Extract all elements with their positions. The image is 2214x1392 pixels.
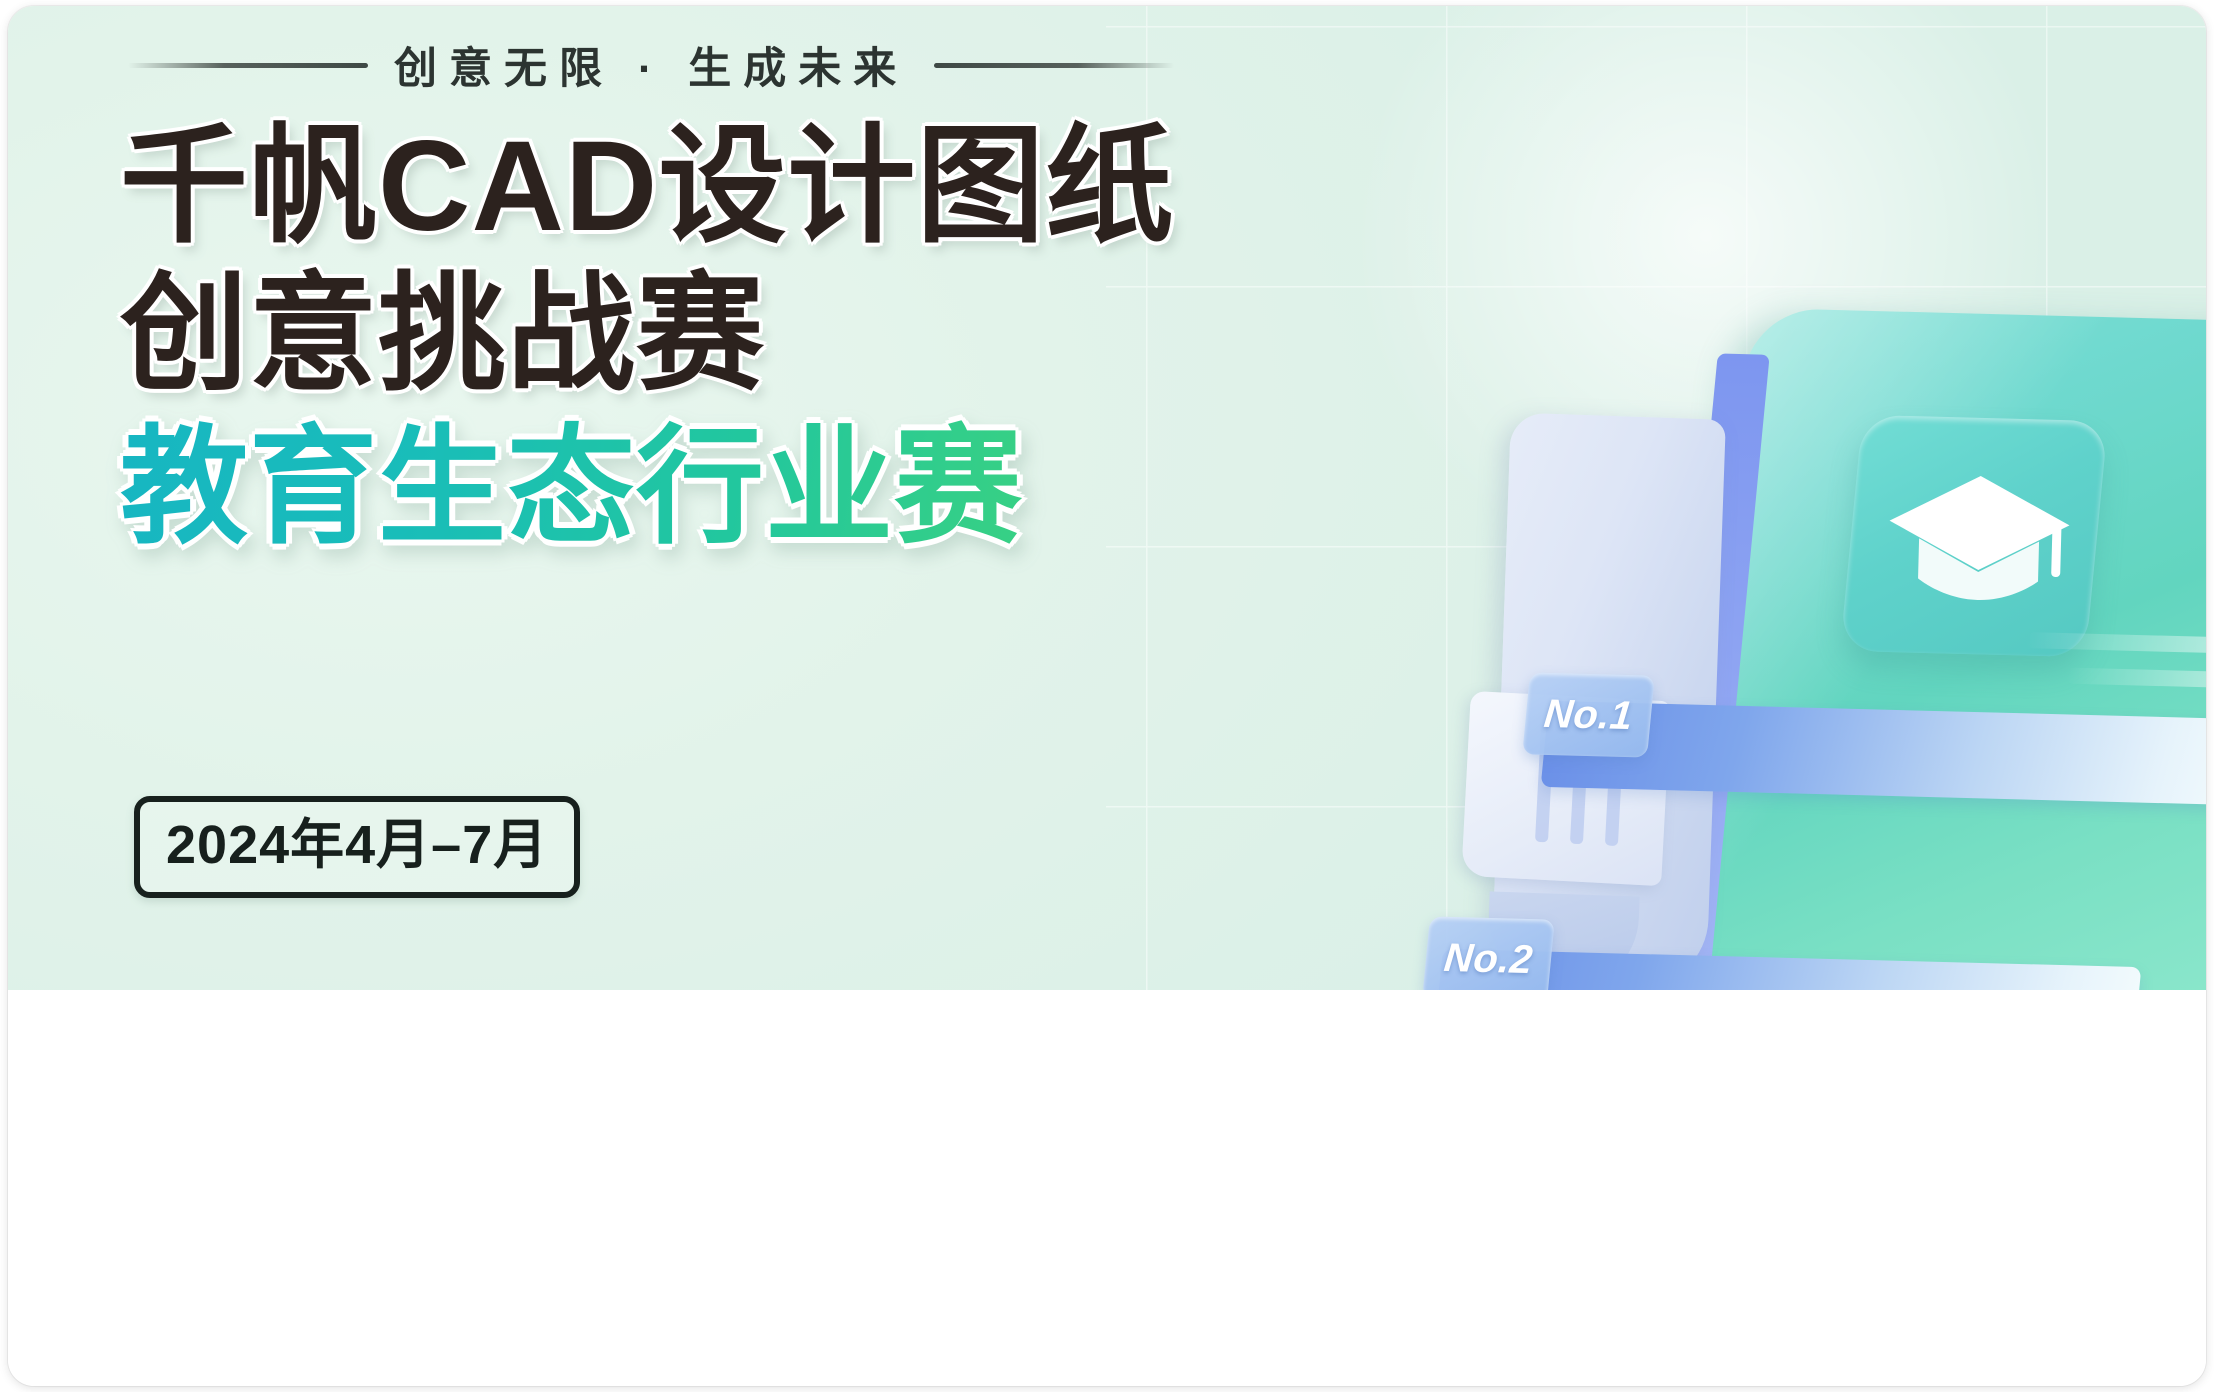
title-line-3-accent: 教育生态行业赛 [120,418,1174,558]
illustration-paper-sheet [1491,412,1726,989]
illustration-streak [2066,668,2206,691]
tagline-rule-right [934,63,1174,68]
page-content-area [8,990,2206,1386]
page-card: 创意无限 · 生成未来 千帆CAD设计图纸 创意挑战赛 教育生态行业赛 2024… [8,6,2206,1386]
illustration-blue-spine [1658,353,1769,974]
rank-chip: No.1 [1522,672,1655,757]
event-date-text: 2024年4月–7月 [166,814,548,876]
rank-bar [1435,949,2142,990]
illustration-icon-tile [1840,415,2108,657]
graduation-cap-icon [1882,466,2076,621]
banner-glow-decoration [1326,6,2086,586]
illustration-teal-slab [1684,308,2206,990]
title-line-2: 创意挑战赛 [120,266,1174,404]
banner-3d-illustration: No.1 No.2 [1466,306,2206,990]
rank-bar [1541,701,2206,805]
event-date-badge: 2024年4月–7月 [134,796,580,898]
illustration-streak [2026,632,2206,656]
banner-title-block: 千帆CAD设计图纸 创意挑战赛 教育生态行业赛 [120,118,1174,558]
blueprint-grid-decoration [1106,6,2206,990]
hero-banner: 创意无限 · 生成未来 千帆CAD设计图纸 创意挑战赛 教育生态行业赛 2024… [8,6,2206,990]
tagline-text: 创意无限 · 生成未来 [394,34,908,96]
rank-label: No.1 [1542,691,1635,738]
illustration-paper-tab [1461,691,1670,886]
title-line-1: 千帆CAD设计图纸 [120,118,1174,256]
illustration-paper-roll [1486,891,1639,990]
illustration-paper-lines [1535,724,1624,846]
tagline-rule-left [128,63,368,68]
illustration-slab-sheen [1684,308,2206,990]
rank-chip: No.2 [1422,916,1555,990]
banner-tagline: 创意无限 · 生成未来 [128,40,1174,90]
rank-label: No.2 [1442,935,1535,982]
